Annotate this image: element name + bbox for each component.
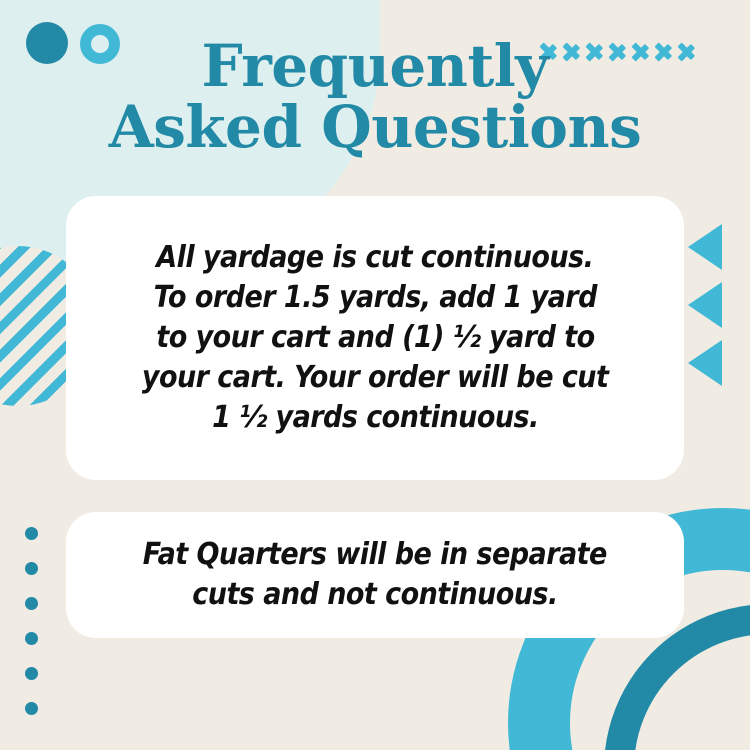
dot-icon bbox=[25, 667, 38, 680]
faq-graphic-canvas: Frequently Asked Questions All yardage i… bbox=[0, 0, 750, 750]
dot-icon bbox=[25, 597, 38, 610]
page-title-line-2: Asked Questions bbox=[0, 97, 750, 158]
triangle-left-icon bbox=[688, 224, 722, 270]
faq-card-line: Fat Quarters will be in separate bbox=[143, 535, 607, 575]
dot-icon bbox=[25, 527, 38, 540]
faq-card-yardage: All yardage is cut continuous. To order … bbox=[66, 196, 684, 480]
faq-card-fat-quarters: Fat Quarters will be in separate cuts an… bbox=[66, 512, 684, 638]
triangle-left-icon bbox=[688, 282, 722, 328]
dot-column-decoration bbox=[25, 527, 38, 715]
page-title: Frequently Asked Questions bbox=[0, 36, 750, 159]
faq-card-line: cuts and not continuous. bbox=[192, 575, 557, 615]
page-title-line-1: Frequently bbox=[0, 36, 750, 97]
faq-card-line: 1 ½ yards continuous. bbox=[212, 398, 539, 438]
faq-card-line: To order 1.5 yards, add 1 yard bbox=[153, 278, 596, 318]
dot-icon bbox=[25, 632, 38, 645]
triangle-left-icon bbox=[688, 340, 722, 386]
dot-icon bbox=[25, 562, 38, 575]
faq-card-line: All yardage is cut continuous. bbox=[156, 238, 593, 278]
dot-icon bbox=[25, 702, 38, 715]
faq-card-line: to your cart and (1) ½ yard to bbox=[156, 318, 594, 358]
faq-card-line: your cart. Your order will be cut bbox=[142, 358, 608, 398]
